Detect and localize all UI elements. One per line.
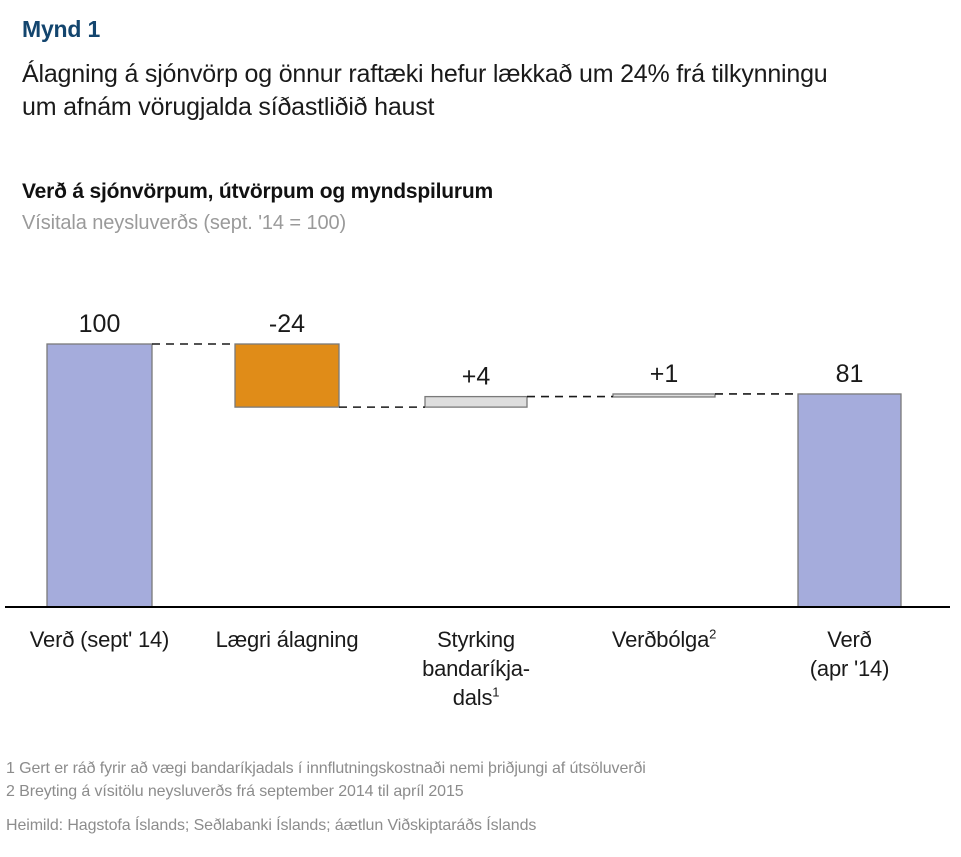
data-label-5: 81 xyxy=(836,360,864,388)
data-label-1: 100 xyxy=(79,310,121,338)
figure-label: Mynd 1 xyxy=(22,16,922,44)
chart-title: Verð á sjónvörpum, útvörpum og myndspilu… xyxy=(22,180,493,204)
footnote-marker: 1 xyxy=(492,685,499,700)
x-label-3: Styrkingbandaríkja-dals1 xyxy=(366,625,586,712)
x-label-5: Verð(apr '14) xyxy=(740,625,960,683)
footnote-1: 1 Gert er ráð fyrir að vægi bandaríkjada… xyxy=(6,758,946,781)
x-label-line: dals1 xyxy=(366,683,586,712)
x-label-line: Verð xyxy=(740,625,960,654)
footnote-marker: 2 xyxy=(709,627,716,642)
source-line: Heimild: Hagstofa Íslands; Seðlabanki Ís… xyxy=(6,817,946,835)
footnote-2: 2 Breyting á vísitölu neysluverðs frá se… xyxy=(6,781,946,804)
x-label-2: Lægri álagning xyxy=(177,625,397,654)
data-label-2: -24 xyxy=(269,310,305,338)
x-label-line: bandaríkja- xyxy=(366,654,586,683)
bar-4 xyxy=(613,394,715,397)
x-axis-labels: Verð (sept' 14)Lægri álagningStyrkingban… xyxy=(0,625,961,745)
waterfall-chart: 100-24+4+181 xyxy=(0,260,961,620)
figure-headline: Álagning á sjónvörp og önnur raftæki hef… xyxy=(22,58,852,125)
figure-header: Mynd 1 Álagning á sjónvörp og önnur raft… xyxy=(22,16,922,124)
bar-5 xyxy=(798,394,901,607)
chart-subtitle: Vísitala neysluverðs (sept. '14 = 100) xyxy=(22,212,346,235)
data-label-4: +1 xyxy=(650,360,679,388)
x-label-line: Styrking xyxy=(366,625,586,654)
chart-canvas: 100-24+4+181 xyxy=(0,260,961,620)
bar-2 xyxy=(235,344,339,407)
data-label-3: +4 xyxy=(462,363,491,391)
x-label-line: (apr '14) xyxy=(740,654,960,683)
footnotes-block: 1 Gert er ráð fyrir að vægi bandaríkjada… xyxy=(6,758,946,835)
x-label-line: Lægri álagning xyxy=(177,625,397,654)
bar-1 xyxy=(47,344,152,607)
bar-3 xyxy=(425,397,527,408)
